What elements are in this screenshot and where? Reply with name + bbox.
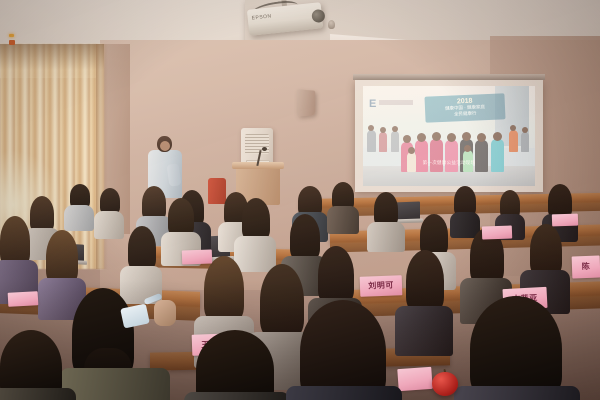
projected-person bbox=[430, 139, 443, 172]
presenter-face bbox=[160, 141, 170, 151]
projected-person-head bbox=[477, 133, 486, 142]
face-mask bbox=[120, 304, 150, 329]
projected-side-sign bbox=[379, 100, 413, 105]
projected-person-head bbox=[493, 132, 502, 141]
placard-right-edge: 陈 bbox=[572, 256, 600, 279]
projected-person bbox=[491, 139, 504, 172]
projected-event-banner: 2018 健康中国 · 健康家庭 全民健康行 bbox=[424, 93, 505, 122]
red-chair bbox=[208, 178, 226, 204]
placard-mid-left bbox=[182, 249, 212, 264]
projected-image: E 2018 健康中国 · 健康家庭 全民健康行 bbox=[363, 86, 535, 186]
placard-far-left bbox=[8, 291, 39, 307]
placard-liu-ming-ke: 刘明可 bbox=[360, 275, 403, 296]
projected-child-head bbox=[464, 145, 471, 152]
projected-person-head bbox=[447, 133, 456, 142]
projected-person bbox=[391, 131, 399, 152]
projected-person bbox=[415, 140, 428, 172]
projected-letter-mark: E bbox=[369, 98, 376, 110]
projected-person bbox=[475, 140, 488, 172]
aircon-power-button[interactable] bbox=[9, 40, 15, 45]
projected-person-head bbox=[462, 132, 471, 141]
placard-front-row bbox=[397, 367, 432, 391]
projected-person bbox=[367, 130, 376, 152]
raised-hand bbox=[154, 300, 176, 326]
projected-person-head bbox=[368, 125, 374, 131]
projected-person-head bbox=[403, 135, 411, 143]
projected-person-head bbox=[522, 127, 528, 133]
microphone-head-icon bbox=[262, 147, 267, 151]
projected-person bbox=[379, 132, 387, 152]
projected-person-head bbox=[417, 133, 426, 142]
projected-child-head bbox=[408, 147, 415, 154]
projected-person bbox=[521, 132, 529, 152]
banner-line-2: 全民健康行 bbox=[454, 111, 477, 118]
conference-room-photo: EPSON E 2018 健康中国 · 健康家庭 全民健康行 bbox=[0, 0, 600, 400]
projected-person-head bbox=[392, 126, 398, 132]
curtain-shadow bbox=[0, 44, 104, 70]
projector-brand-label: EPSON bbox=[251, 13, 272, 21]
projected-person-head bbox=[380, 127, 386, 133]
wall-speaker bbox=[297, 89, 315, 117]
red-apple bbox=[432, 372, 458, 396]
projected-person-head bbox=[510, 125, 516, 131]
sprinkler-icon bbox=[328, 20, 335, 29]
projected-caption: 第一次健康公益活动现场 bbox=[363, 160, 535, 166]
placard-back-right bbox=[552, 214, 578, 227]
aircon-power-led-icon bbox=[9, 34, 14, 37]
projected-person bbox=[445, 140, 458, 172]
aircon-grill bbox=[245, 134, 269, 154]
projected-person-head bbox=[432, 132, 441, 141]
placard-mid-right bbox=[482, 225, 512, 239]
projected-person bbox=[509, 130, 518, 152]
